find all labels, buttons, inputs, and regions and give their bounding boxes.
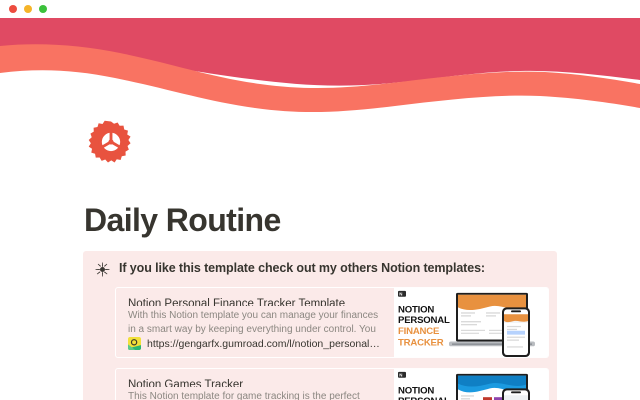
- svg-text:NOTION: NOTION: [398, 385, 434, 396]
- window-close-button[interactable]: [9, 5, 17, 13]
- bookmark-title: Notion Games Tracker: [128, 378, 385, 387]
- gumroad-favicon-icon: [128, 337, 141, 350]
- svg-text:N: N: [399, 292, 402, 297]
- svg-text:PERSONAL: PERSONAL: [398, 396, 450, 400]
- svg-text:N: N: [399, 373, 402, 378]
- header-wave-banner: [0, 18, 640, 123]
- bookmark-description: With this Notion template you can manage…: [128, 309, 385, 334]
- bookmark-description: This Notion template for game tracking i…: [128, 390, 385, 400]
- callout-block: If you like this template check out my o…: [83, 251, 557, 400]
- svg-text:NOTION: NOTION: [398, 304, 434, 315]
- bookmark-info: Notion Games Tracker This Notion templat…: [116, 369, 394, 400]
- svg-text:FINANCE: FINANCE: [398, 326, 439, 337]
- bookmark-list: Notion Personal Finance Tracker Template…: [94, 287, 543, 400]
- bookmark-card[interactable]: Notion Games Tracker This Notion templat…: [115, 368, 549, 400]
- bookmark-card[interactable]: Notion Personal Finance Tracker Template…: [115, 287, 549, 358]
- svg-text:PERSONAL: PERSONAL: [398, 315, 450, 326]
- callout-text: If you like this template check out my o…: [119, 260, 485, 277]
- window-minimize-button[interactable]: [24, 5, 32, 13]
- bookmark-url: https://gengarfx.gumroad.com/l/notion_pe…: [147, 338, 385, 350]
- window-maximize-button[interactable]: [39, 5, 47, 13]
- bookmark-url-row: https://gengarfx.gumroad.com/l/notion_pe…: [128, 337, 385, 350]
- bookmark-thumbnail: N NOTION PERSONAL FINANCE TRACKER: [394, 288, 548, 357]
- bookmark-info: Notion Personal Finance Tracker Template…: [116, 288, 394, 357]
- app-window: Daily Routine: [0, 0, 640, 400]
- gear-icon[interactable]: [84, 116, 138, 170]
- svg-text:TRACKER: TRACKER: [398, 337, 444, 348]
- bookmark-title: Notion Personal Finance Tracker Template: [128, 297, 385, 306]
- sparkle-icon: [94, 261, 111, 278]
- window-titlebar: [0, 0, 640, 18]
- bookmark-thumbnail: N NOTION PERSONAL GAMES TRACKER: [394, 369, 548, 400]
- callout-header: If you like this template check out my o…: [94, 260, 543, 278]
- page-title: Daily Routine: [84, 200, 281, 240]
